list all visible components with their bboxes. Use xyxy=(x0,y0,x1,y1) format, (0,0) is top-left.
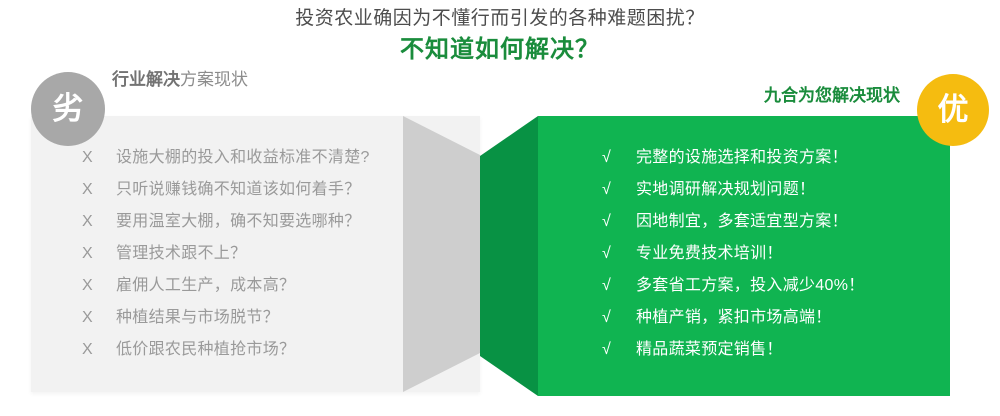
list-item-label: 专业免费技术培训！ xyxy=(636,239,783,263)
list-item: X雇佣人工生产，成本高？ xyxy=(82,271,370,303)
list-item-label: 设施大棚的投入和收益标准不清楚? xyxy=(116,143,370,167)
list-item-label: 种植结果与市场脱节？ xyxy=(116,303,279,327)
list-item: √因地制宜，多套适宜型方案！ xyxy=(602,207,865,239)
comparison-infographic: 投资农业确因为不懂行而引发的各种难题困扰？ 不知道如何解决？ 行业解决方案现状 … xyxy=(0,0,1000,416)
cross-icon: X xyxy=(82,181,116,199)
cross-icon: X xyxy=(82,245,116,263)
badge-inferior: 劣 xyxy=(31,72,105,146)
list-item-label: 低价跟农民种植抢市场？ xyxy=(116,335,295,359)
cross-icon: X xyxy=(82,213,116,231)
list-item-label: 完整的设施选择和投资方案！ xyxy=(636,143,848,167)
left-panel-heading-strong: 行业解决 xyxy=(112,70,180,89)
list-item-label: 多套省工方案，投入减少40%！ xyxy=(636,271,865,295)
check-icon: √ xyxy=(602,277,636,295)
cross-icon: X xyxy=(82,309,116,327)
check-icon: √ xyxy=(602,245,636,263)
cross-icon: X xyxy=(82,277,116,295)
list-item: √种植产销，紧扣市场高端！ xyxy=(602,303,865,335)
list-item: X设施大棚的投入和收益标准不清楚? xyxy=(82,143,370,175)
headline-line-2: 不知道如何解决？ xyxy=(0,34,1000,66)
headline-block: 投资农业确因为不懂行而引发的各种难题困扰？ 不知道如何解决？ xyxy=(0,6,1000,66)
list-item: X种植结果与市场脱节？ xyxy=(82,303,370,335)
check-icon: √ xyxy=(602,149,636,167)
right-panel-fold xyxy=(480,116,538,396)
check-icon: √ xyxy=(602,341,636,359)
badge-superior: 优 xyxy=(917,74,989,146)
list-item-label: 要用温室大棚，确不知要选哪种？ xyxy=(116,207,361,231)
list-item: X要用温室大棚，确不知要选哪种？ xyxy=(82,207,370,239)
list-item: √专业免费技术培训！ xyxy=(602,239,865,271)
left-panel-fold xyxy=(403,116,480,392)
cross-icon: X xyxy=(82,341,116,359)
list-item-label: 实地调研解决规划问题！ xyxy=(636,175,815,199)
list-item-label: 种植产销，紧扣市场高端！ xyxy=(636,303,832,327)
list-item-label: 管理技术跟不上？ xyxy=(116,239,246,263)
list-item: √多套省工方案，投入减少40%！ xyxy=(602,271,865,303)
right-solution-list: √完整的设施选择和投资方案！ √实地调研解决规划问题！ √因地制宜，多套适宜型方… xyxy=(602,143,865,367)
check-icon: √ xyxy=(602,309,636,327)
cross-icon: X xyxy=(82,149,116,167)
list-item: √完整的设施选择和投资方案！ xyxy=(602,143,865,175)
headline-line-1: 投资农业确因为不懂行而引发的各种难题困扰？ xyxy=(0,6,1000,32)
list-item: √实地调研解决规划问题！ xyxy=(602,175,865,207)
left-panel-heading-rest: 方案现状 xyxy=(180,70,248,89)
list-item: √精品蔬菜预定销售！ xyxy=(602,335,865,367)
list-item-label: 雇佣人工生产，成本高？ xyxy=(116,271,295,295)
list-item: X低价跟农民种植抢市场？ xyxy=(82,335,370,367)
list-item: X只听说赚钱确不知道该如何着手？ xyxy=(82,175,370,207)
right-panel-heading: 九合为您解决现状 xyxy=(764,84,900,108)
list-item-label: 精品蔬菜预定销售！ xyxy=(636,335,783,359)
check-icon: √ xyxy=(602,181,636,199)
check-icon: √ xyxy=(602,213,636,231)
left-panel-heading: 行业解决方案现状 xyxy=(112,68,248,92)
list-item-label: 因地制宜，多套适宜型方案！ xyxy=(636,207,848,231)
list-item: X管理技术跟不上？ xyxy=(82,239,370,271)
left-problem-list: X设施大棚的投入和收益标准不清楚? X只听说赚钱确不知道该如何着手？ X要用温室… xyxy=(82,143,370,367)
list-item-label: 只听说赚钱确不知道该如何着手？ xyxy=(116,175,361,199)
